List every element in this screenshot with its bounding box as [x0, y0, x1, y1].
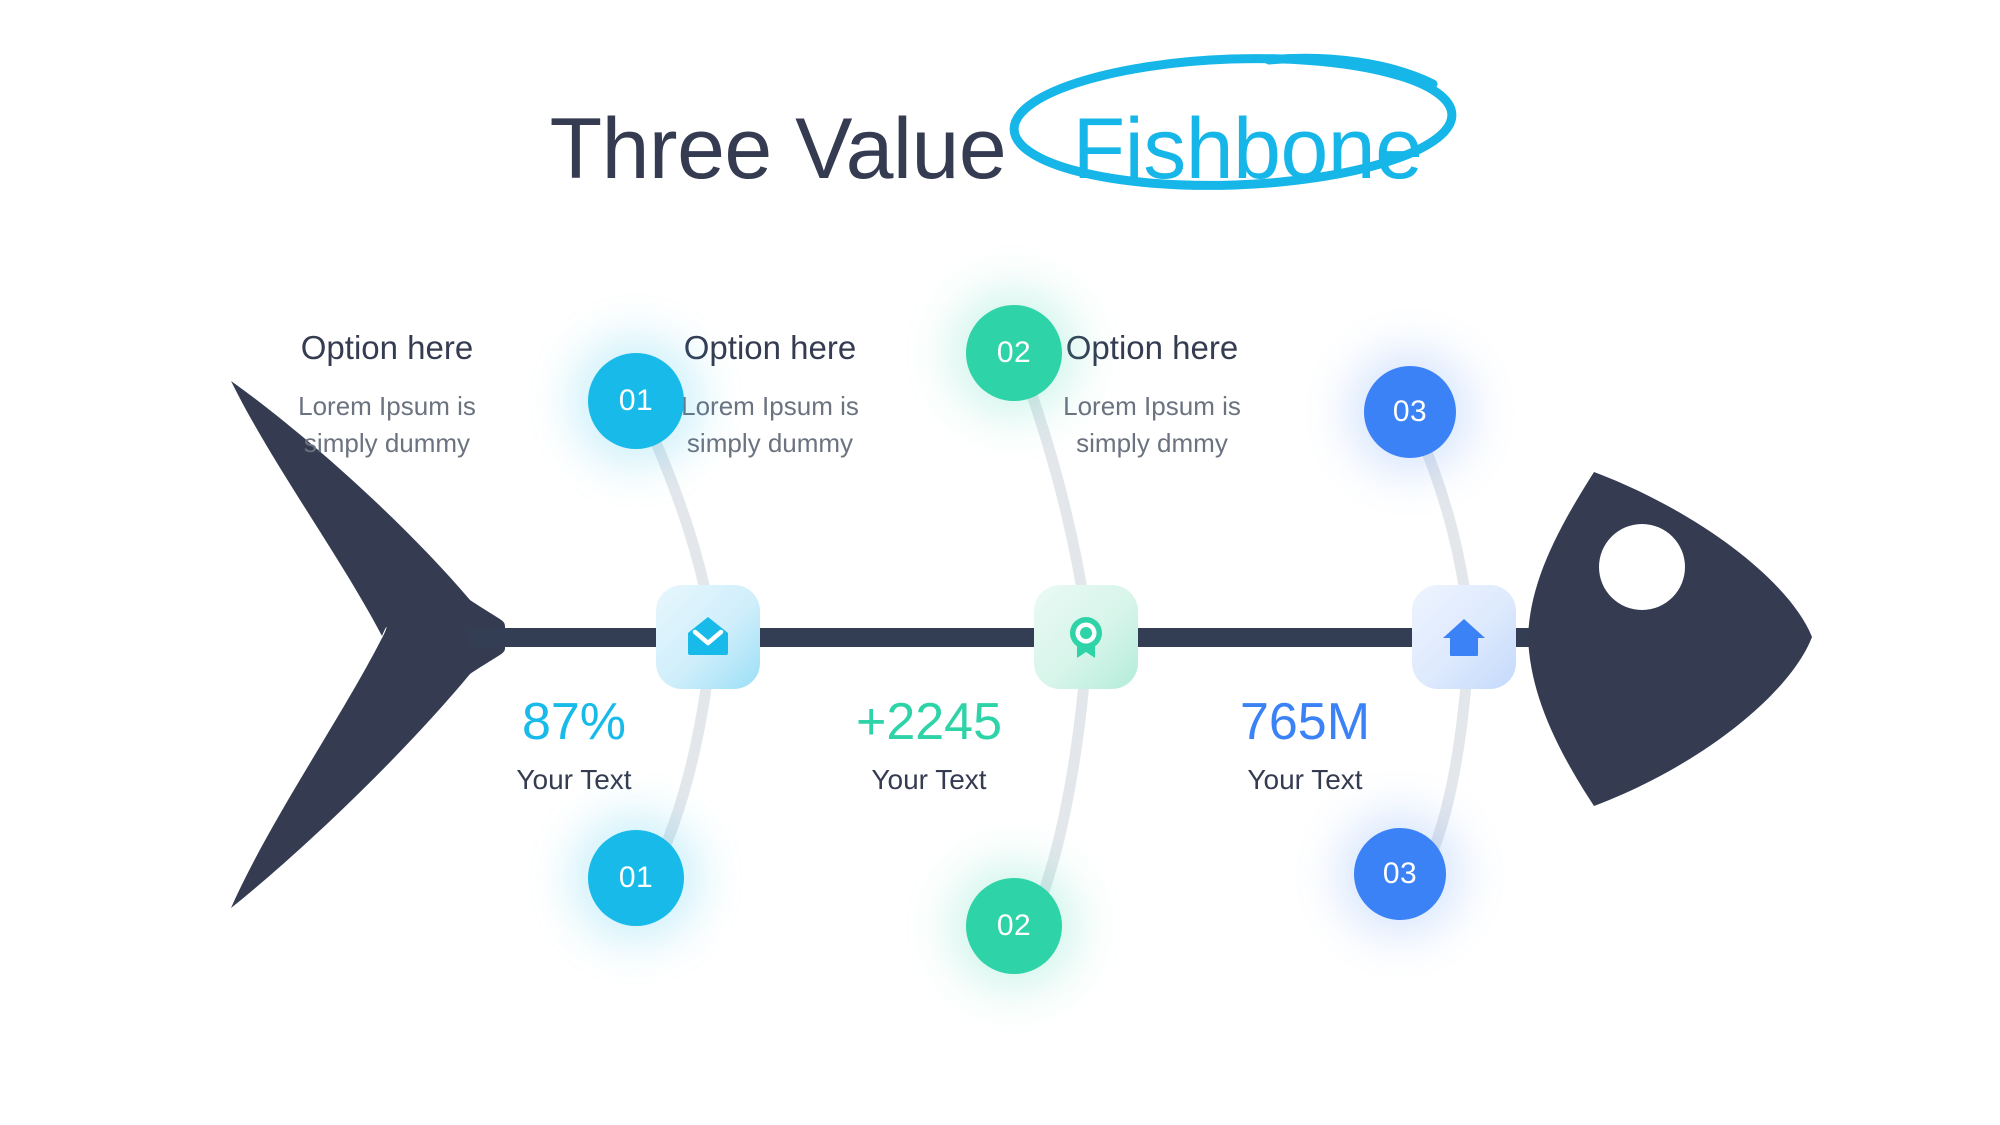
stat-label-2: Your Text	[779, 766, 1079, 794]
fish-eye	[1599, 524, 1685, 610]
home-icon	[1439, 612, 1489, 662]
number-bubble-bottom-1-label: 01	[619, 861, 653, 895]
stat-label-1: Your Text	[424, 766, 724, 794]
number-bubble-top-3[interactable]: 03	[1364, 366, 1456, 458]
option-body-line2-1: simply dummy	[222, 425, 552, 462]
slide-canvas: Three Value Fishbone Option here Lorem	[0, 0, 2000, 1125]
number-bubble-top-2-label: 02	[997, 336, 1031, 370]
stat-block-3: 765M Your Text	[1155, 696, 1455, 794]
fish-spine	[468, 628, 1532, 647]
stat-value-3: 765M	[1155, 696, 1455, 748]
number-bubble-top-2[interactable]: 02	[966, 305, 1062, 401]
stat-block-1: 87% Your Text	[424, 696, 724, 794]
number-bubble-top-1-label: 01	[619, 384, 653, 418]
stat-value-1: 87%	[424, 696, 724, 748]
number-bubble-bottom-1[interactable]: 01	[588, 830, 684, 926]
stat-block-2: +2245 Your Text	[779, 696, 1079, 794]
title-accent-text: Fishbone	[1045, 101, 1451, 197]
number-bubble-bottom-2[interactable]: 02	[966, 878, 1062, 974]
number-bubble-top-1[interactable]: 01	[588, 353, 684, 449]
icon-tile-1[interactable]	[656, 585, 760, 689]
number-bubble-bottom-3-label: 03	[1383, 857, 1417, 891]
number-bubble-bottom-2-label: 02	[997, 909, 1031, 943]
fish-head	[1528, 472, 1812, 806]
award-icon	[1061, 612, 1111, 662]
stat-label-3: Your Text	[1155, 766, 1455, 794]
icon-tile-2[interactable]	[1034, 585, 1138, 689]
option-body-line2-3: simply dmmy	[987, 425, 1317, 462]
stat-value-2: +2245	[779, 696, 1079, 748]
title-accent-group: Fishbone	[1045, 100, 1451, 199]
mail-icon	[682, 611, 734, 663]
icon-tile-3[interactable]	[1412, 585, 1516, 689]
number-bubble-bottom-3[interactable]: 03	[1354, 828, 1446, 920]
option-block-1: Option here Lorem Ipsum is simply dummy	[222, 330, 552, 462]
option-body-line1-1: Lorem Ipsum is	[222, 388, 552, 425]
option-title-1: Option here	[222, 330, 552, 366]
number-bubble-top-3-label: 03	[1393, 395, 1427, 429]
